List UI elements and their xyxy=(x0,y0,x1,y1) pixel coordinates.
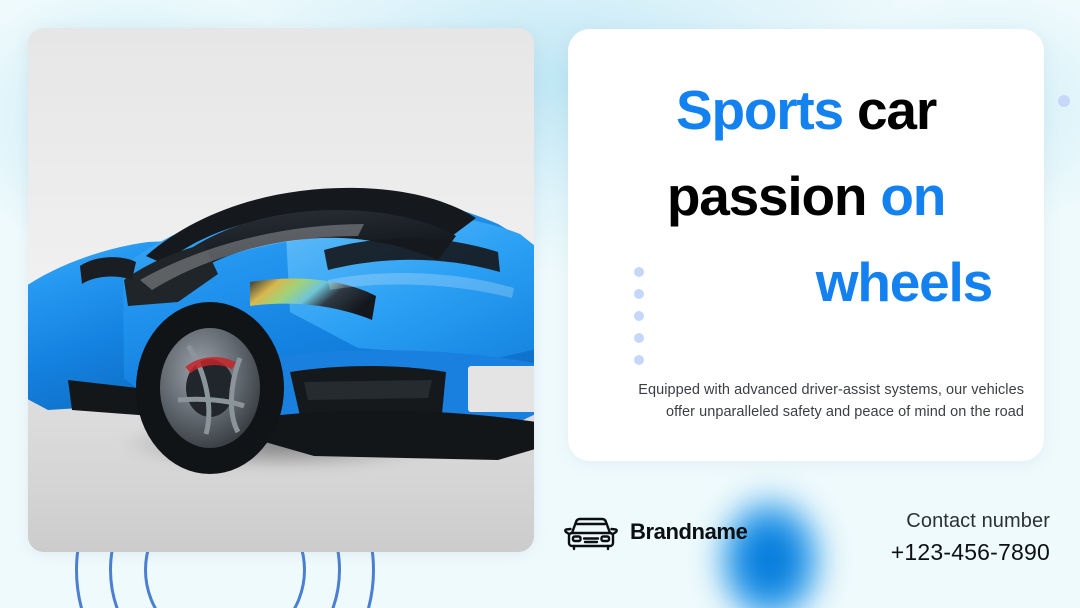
headline: Sports car passion on wheels xyxy=(596,67,1016,325)
brand-name: Brandname xyxy=(630,519,747,545)
car-photo xyxy=(28,28,534,552)
headline-line-1: Sports car xyxy=(596,67,1016,153)
poster-canvas: Sports car passion on wheels Equipped wi… xyxy=(0,0,1080,608)
dot-list-decoration xyxy=(634,267,644,365)
contact-block: Contact number +123-456-7890 xyxy=(891,506,1050,568)
car-front-icon xyxy=(564,513,618,551)
dot-3 xyxy=(634,311,644,321)
contact-number[interactable]: +123-456-7890 xyxy=(891,536,1050,568)
headline-accent-sports: Sports xyxy=(676,79,843,141)
headline-line-3: wheels xyxy=(596,239,1016,325)
headline-plain-car: car xyxy=(857,79,936,141)
headline-card: Sports car passion on wheels Equipped wi… xyxy=(568,29,1044,461)
dot-5 xyxy=(634,355,644,365)
dot-2 xyxy=(634,289,644,299)
contact-label: Contact number xyxy=(891,506,1050,536)
car-front-splitter xyxy=(242,411,534,460)
headline-line-2: passion on xyxy=(596,153,1016,239)
headline-accent-on: on xyxy=(880,165,945,227)
dot-1 xyxy=(634,267,644,277)
headline-plain-passion: passion xyxy=(667,165,866,227)
dot-4 xyxy=(634,333,644,343)
car-license-plate xyxy=(468,366,534,412)
dot-decoration-top-right xyxy=(1058,95,1070,107)
brand-lockup[interactable]: Brandname xyxy=(564,513,747,551)
body-copy: Equipped with advanced driver-assist sys… xyxy=(626,379,1024,423)
headline-accent-wheels: wheels xyxy=(816,251,992,313)
car-illustration xyxy=(28,28,534,552)
car-grille-mesh xyxy=(304,380,432,400)
